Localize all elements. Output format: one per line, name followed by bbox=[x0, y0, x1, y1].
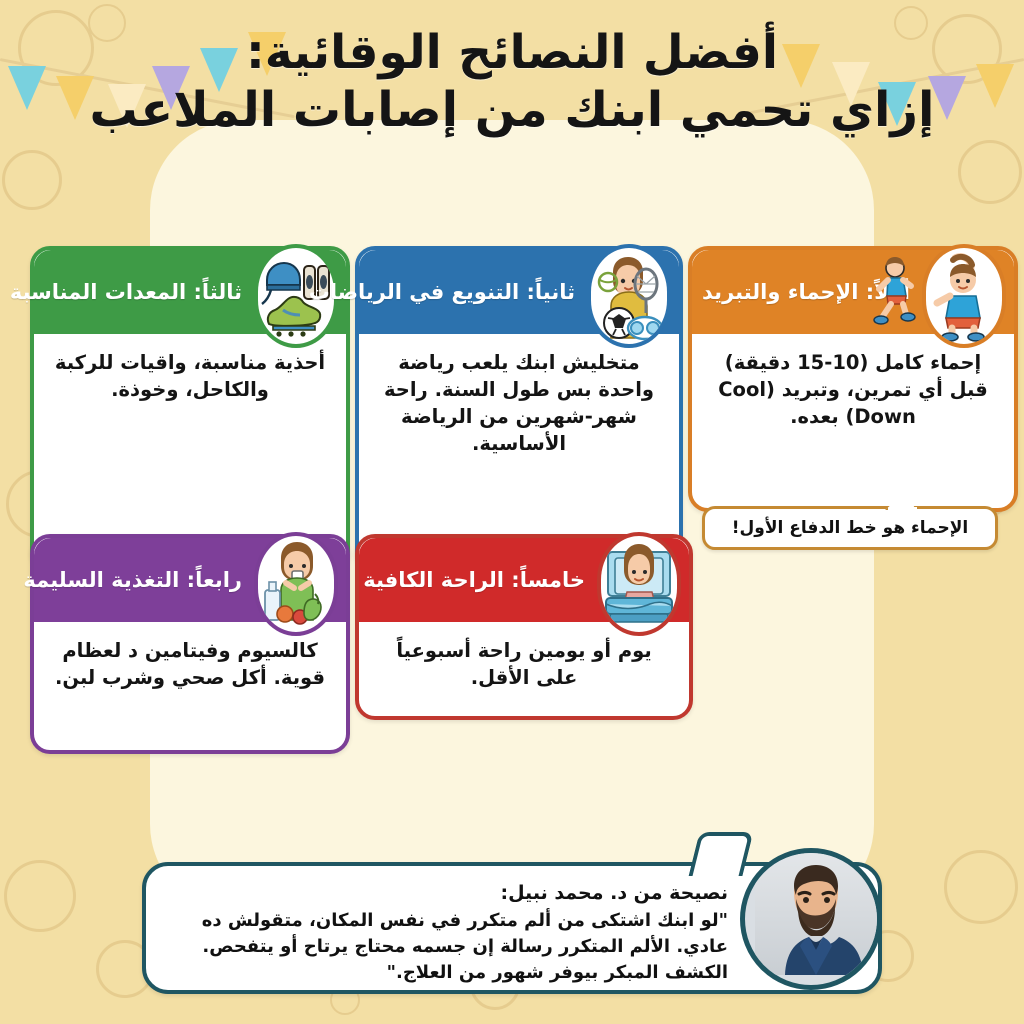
tip-card-header: خامساً: الراحة الكافية bbox=[359, 538, 689, 622]
child-sleeping-in-bed-icon bbox=[597, 532, 681, 636]
warmup-callout-bubble: الإحماء هو خط الدفاع الأول! bbox=[702, 506, 998, 550]
running-child-icon bbox=[862, 256, 922, 330]
ball-outline-icon bbox=[2, 150, 62, 210]
doctor-quote-bubble: نصيحة من د. محمد نبيل: "لو ابنك اشتكى من… bbox=[142, 862, 882, 994]
doctor-quote-heading: نصيحة من د. محمد نبيل: bbox=[172, 882, 728, 904]
tip-card-variety[interactable]: ثانياً: التنويع في الرياضات متخليش ابنك … bbox=[355, 246, 683, 572]
doctor-quote-body: "لو ابنك اشتكى من ألم متكرر في نفس المكا… bbox=[172, 908, 728, 986]
child-drinking-milk-icon bbox=[254, 532, 338, 636]
page-title-line1: أفضل النصائح الوقائية: bbox=[246, 25, 778, 80]
tip-card-heading: ثالثاً: المعدات المناسبة bbox=[46, 280, 242, 304]
warmup-callout-text: الإحماء هو خط الدفاع الأول! bbox=[732, 518, 969, 538]
tip-card-body: متخليش ابنك يلعب رياضة واحدة بس طول السن… bbox=[359, 334, 679, 472]
page-title-line2: إزاي تحمي ابنك من إصابات الملاعب bbox=[0, 81, 1024, 140]
tip-card-header: أولاً: الإحماء والتبريد bbox=[692, 250, 1014, 334]
doctor-photo-avatar bbox=[740, 848, 882, 990]
child-with-sports-gear-icon bbox=[587, 244, 671, 348]
tip-card-nutrition[interactable]: رابعاً: التغذية السليمة كالسيوم وفيتامين… bbox=[30, 534, 350, 754]
ball-outline-icon bbox=[4, 860, 76, 932]
tip-card-heading: رابعاً: التغذية السليمة bbox=[46, 568, 242, 592]
tip-card-rest[interactable]: خامساً: الراحة الكافية يوم أو يومين راحة… bbox=[355, 534, 693, 720]
tip-card-header: ثانياً: التنويع في الرياضات bbox=[359, 250, 679, 334]
ball-outline-icon bbox=[958, 140, 1022, 204]
quote-tail bbox=[689, 832, 754, 876]
tip-card-heading: ثانياً: التنويع في الرياضات bbox=[371, 280, 575, 304]
tip-card-header: رابعاً: التغذية السليمة bbox=[34, 538, 346, 622]
tip-card-body: إحماء كامل (10-15 دقيقة) قبل أي تمرين، و… bbox=[692, 334, 1014, 445]
tip-card-heading: خامساً: الراحة الكافية bbox=[371, 568, 585, 592]
tip-card-equipment[interactable]: ثالثاً: المعدات المناسبة أحذية مناسبة، و… bbox=[30, 246, 350, 572]
tip-card-header: ثالثاً: المعدات المناسبة bbox=[34, 250, 346, 334]
ball-outline-icon bbox=[944, 850, 1018, 924]
infographic-canvas: أفضل النصائح الوقائية: إزاي تحمي ابنك من… bbox=[0, 0, 1024, 1024]
page-title: أفضل النصائح الوقائية: إزاي تحمي ابنك من… bbox=[0, 24, 1024, 140]
tip-card-warmup[interactable]: أولاً: الإحماء والتبريد إحماء كامل (10-1… bbox=[688, 246, 1018, 512]
stretching-child-icon bbox=[922, 244, 1006, 348]
